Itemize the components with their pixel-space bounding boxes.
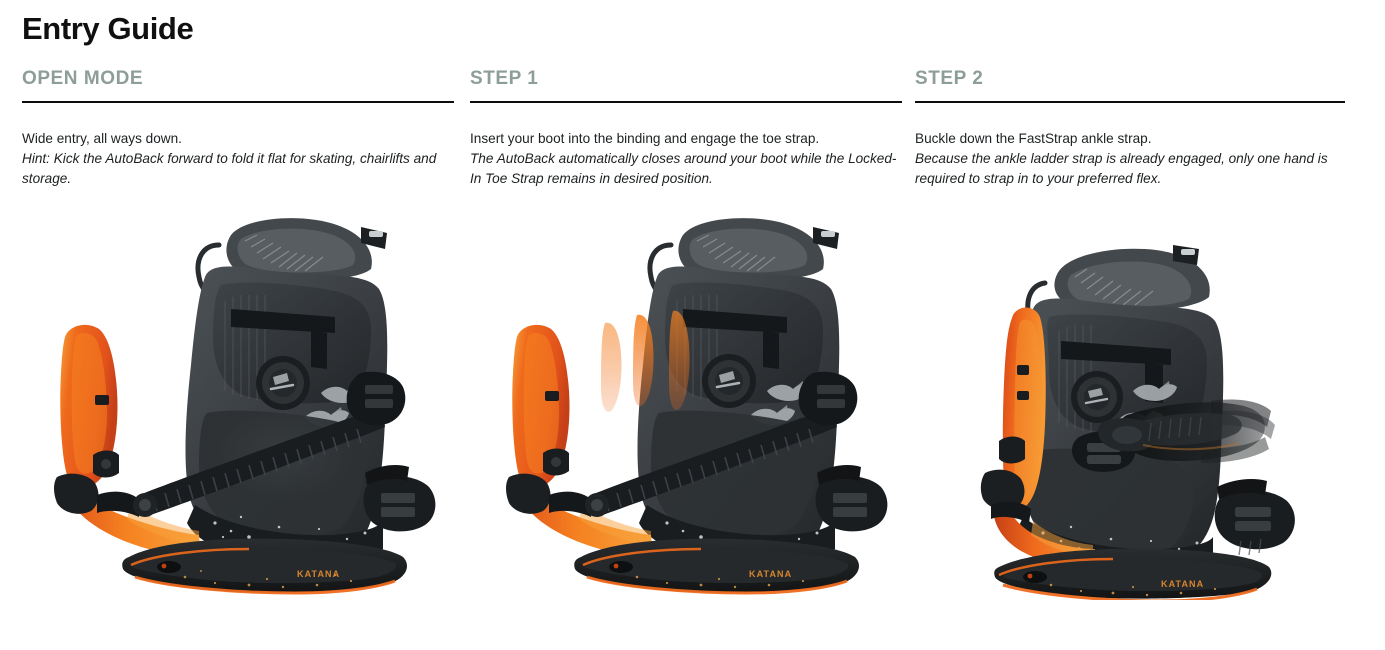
step-heading-open-mode: OPEN MODE: [22, 68, 454, 101]
brand-mark-katana: KATANA: [749, 569, 792, 579]
step-hint-text: Hint: Kick the AutoBack forward to fold …: [22, 149, 454, 189]
product-image-step-1: KATANA: [487, 205, 917, 600]
step-heading-step-1: STEP 1: [470, 68, 902, 101]
product-figures: KATANA: [0, 205, 1385, 605]
heading-divider: [915, 101, 1345, 103]
heading-divider: [22, 101, 454, 103]
heel-ratchet-strap: [816, 465, 888, 531]
binding-baseplate: KATANA: [994, 549, 1271, 600]
step-hint-text: Because the ankle ladder strap is alread…: [915, 149, 1345, 189]
autoback-motion-blur: [601, 311, 690, 412]
heading-divider: [470, 101, 902, 103]
toe-strap-buckle: [1215, 479, 1295, 555]
autoback-highback: [512, 325, 653, 557]
heel-ratchet-strap: [364, 465, 436, 531]
entry-guide-page: Entry Guide OPEN MODE Wide entry, all wa…: [0, 0, 1385, 650]
product-image-step-2: KATANA: [955, 205, 1385, 600]
boa-dial: [702, 354, 756, 408]
page-title: Entry Guide: [22, 12, 193, 46]
step-description-open-mode: Wide entry, all ways down. Hint: Kick th…: [22, 129, 454, 189]
step-column-step-1: STEP 1 Insert your boot into the binding…: [470, 68, 902, 189]
autoback-highback: [60, 325, 201, 557]
step-hint-text: The AutoBack automatically closes around…: [470, 149, 902, 189]
step-lead-text: Insert your boot into the binding and en…: [470, 129, 902, 149]
step-column-open-mode: OPEN MODE Wide entry, all ways down. Hin…: [22, 68, 454, 189]
step-description-step-2: Buckle down the FastStrap ankle strap. B…: [915, 129, 1345, 189]
step-lead-text: Buckle down the FastStrap ankle strap.: [915, 129, 1345, 149]
boa-dial: [1071, 371, 1123, 423]
step-column-step-2: STEP 2 Buckle down the FastStrap ankle s…: [915, 68, 1345, 189]
step-description-step-1: Insert your boot into the binding and en…: [470, 129, 902, 189]
binding-baseplate: KATANA: [574, 539, 859, 593]
step-heading-step-2: STEP 2: [915, 68, 1345, 101]
brand-mark-katana: KATANA: [1161, 579, 1204, 589]
brand-mark-katana: KATANA: [297, 569, 340, 579]
boa-dial: [256, 356, 310, 410]
binding-baseplate: KATANA: [122, 539, 407, 593]
product-image-open-mode: KATANA: [35, 205, 465, 600]
step-lead-text: Wide entry, all ways down.: [22, 129, 454, 149]
